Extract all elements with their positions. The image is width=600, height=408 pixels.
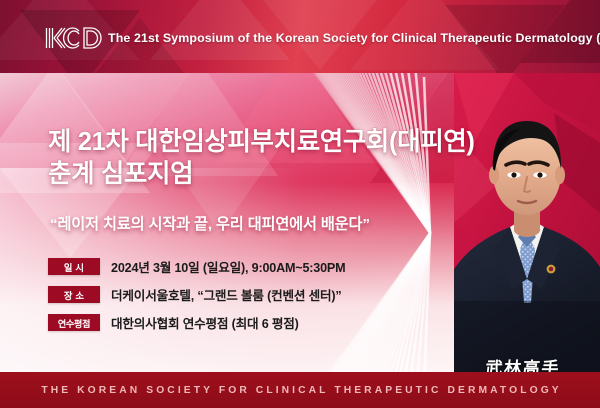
symposium-poster: The 21st Symposium of the Korean Society… bbox=[0, 0, 600, 408]
kcd-logo-icon bbox=[44, 25, 102, 51]
footer-text: THE KOREAN SOCIETY FOR CLINICAL THERAPEU… bbox=[38, 385, 562, 396]
info-label-credits: 연수평점 bbox=[48, 314, 100, 331]
info-row: 장 소 더케이서울호텔, “그랜드 볼룸 (컨벤션 센터)” bbox=[48, 284, 345, 305]
poster-header: The 21st Symposium of the Korean Society… bbox=[0, 0, 600, 73]
subtitle-quote: “레이저 치료의 시작과 끝, 우리 대피연에서 배운다” bbox=[50, 212, 370, 234]
header-title: The 21st Symposium of the Korean Society… bbox=[108, 25, 600, 51]
info-value-date: 2024년 3월 10일 (일요일), 9:00AM~5:30PM bbox=[111, 257, 345, 276]
info-row: 일 시 2024년 3월 10일 (일요일), 9:00AM~5:30PM bbox=[48, 256, 345, 277]
title-line-2: 춘계 심포지엄 bbox=[48, 158, 474, 190]
info-value-venue: 더케이서울호텔, “그랜드 볼룸 (컨벤션 센터)” bbox=[111, 285, 342, 304]
poster-footer: THE KOREAN SOCIETY FOR CLINICAL THERAPEU… bbox=[0, 372, 600, 408]
info-value-credits: 대한의사협회 연수평점 (최대 6 평점) bbox=[111, 313, 299, 332]
info-label-date: 일 시 bbox=[48, 258, 100, 275]
info-list: 일 시 2024년 3월 10일 (일요일), 9:00AM~5:30PM 장 … bbox=[48, 256, 345, 340]
speaker-portrait bbox=[454, 73, 600, 372]
page-title: 제 21차 대한임상피부치료연구회(대피연) 춘계 심포지엄 bbox=[48, 126, 474, 191]
title-line-1: 제 21차 대한임상피부치료연구회(대피연) bbox=[48, 126, 474, 158]
info-row: 연수평점 대한의사협회 연수평점 (최대 6 평점) bbox=[48, 312, 345, 333]
info-label-venue: 장 소 bbox=[48, 286, 100, 303]
